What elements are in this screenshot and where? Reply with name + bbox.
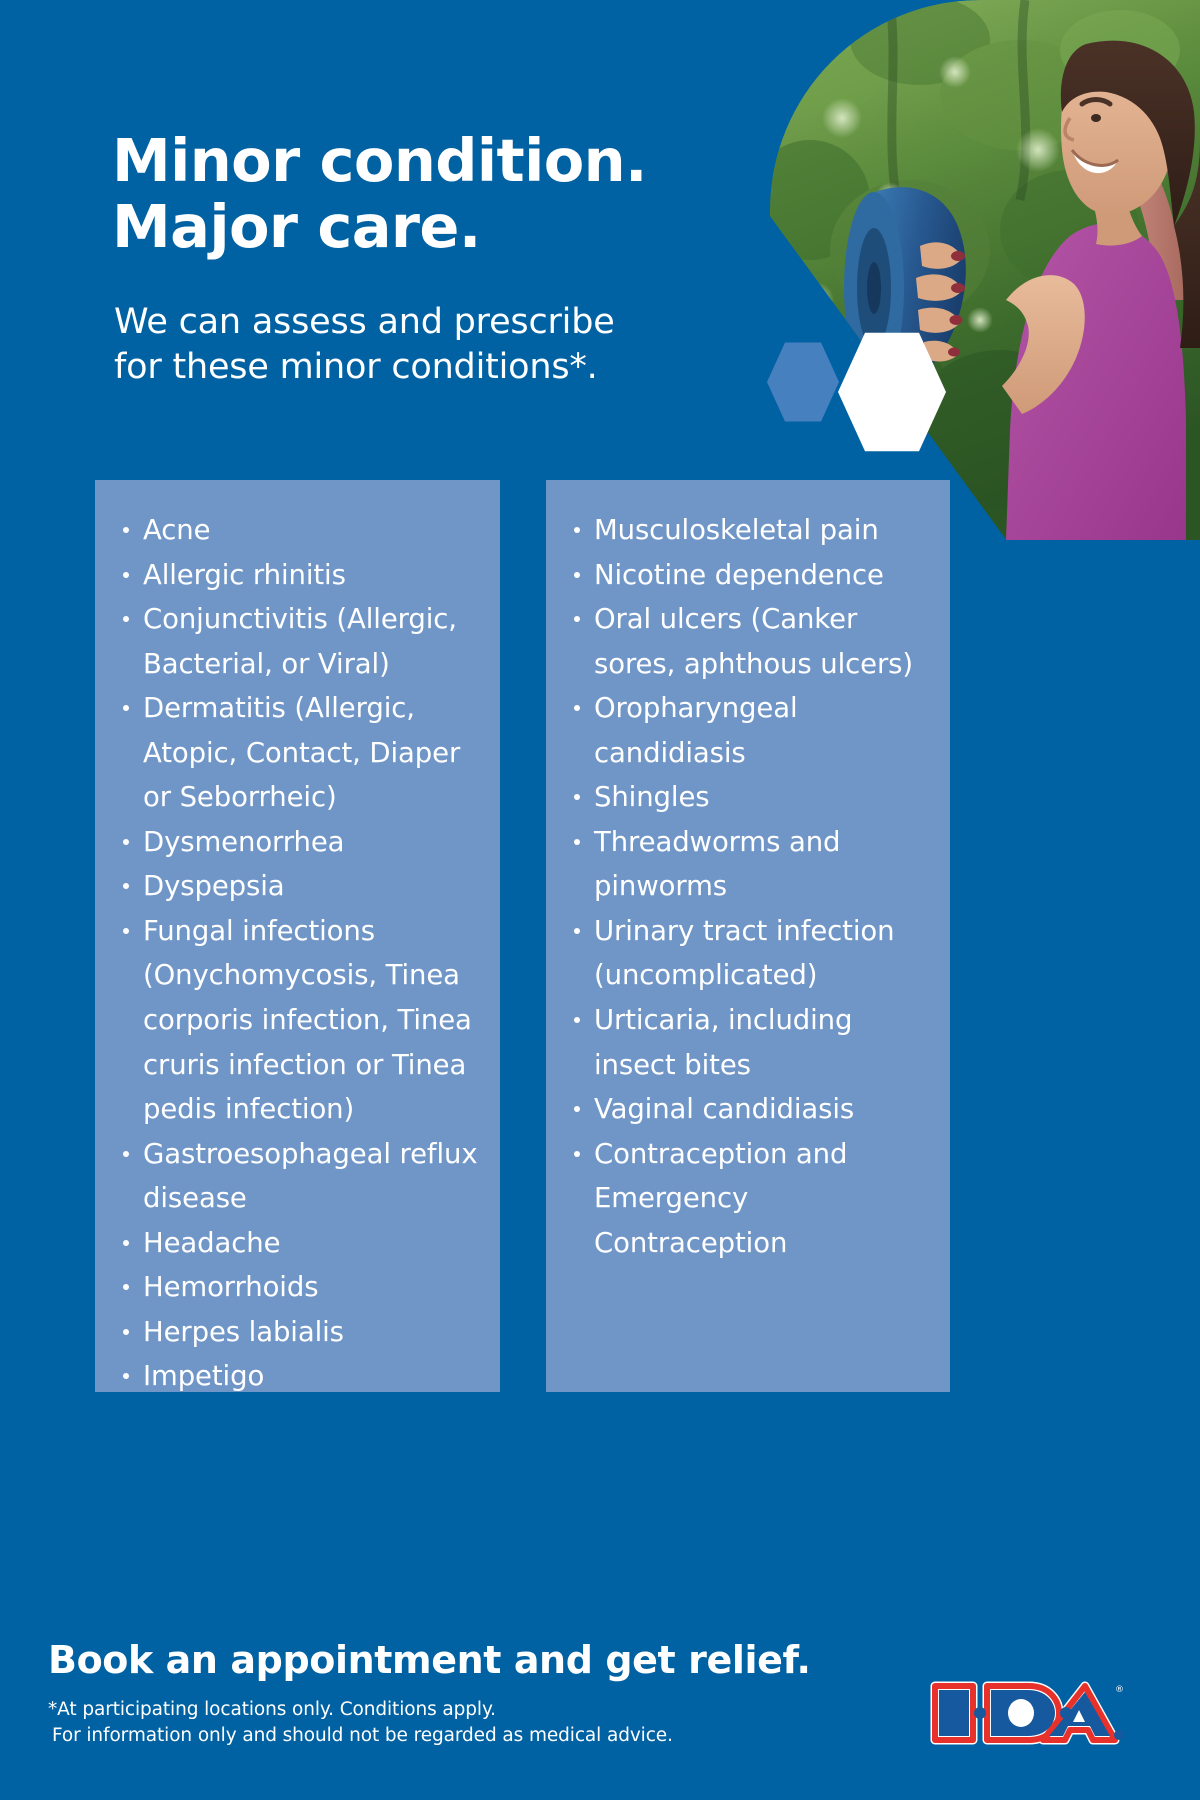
condition-item: Impetigo xyxy=(117,1354,484,1399)
page-title: Minor condition. Major care. xyxy=(112,128,692,260)
condition-item: Dermatitis (Allergic, Atopic, Contact, D… xyxy=(117,686,484,820)
condition-item: Fungal infections (Onychomycosis, Tinea … xyxy=(117,909,484,1132)
cta-text: Book an appointment and get relief. xyxy=(48,1638,811,1682)
condition-item: Musculoskeletal pain xyxy=(568,508,934,553)
condition-item: Urticaria, including insect bites xyxy=(568,998,934,1087)
hero-photo-inner xyxy=(770,0,1200,540)
condition-item: Oral ulcers (Canker sores, aphthous ulce… xyxy=(568,597,934,686)
hero-photo xyxy=(770,0,1200,540)
condition-item: Acne xyxy=(117,508,484,553)
disclaimer: *At participating locations only. Condit… xyxy=(48,1697,673,1750)
condition-item: Herpes labialis xyxy=(117,1310,484,1355)
condition-item: Oropharyngeal candidiasis xyxy=(568,686,934,775)
condition-item: Allergic rhinitis xyxy=(117,553,484,598)
condition-item: Threadworms and pinworms xyxy=(568,820,934,909)
condition-item: Gastroesophageal reflux disease xyxy=(117,1132,484,1221)
conditions-list-right: Musculoskeletal painNicotine dependenceO… xyxy=(568,508,934,1265)
condition-item: Dysmenorrhea xyxy=(117,820,484,865)
conditions-list-left: AcneAllergic rhinitisConjunctivitis (All… xyxy=(117,508,484,1399)
conditions-panel-right: Musculoskeletal painNicotine dependenceO… xyxy=(546,480,950,1392)
condition-item: Shingles xyxy=(568,775,934,820)
headline-line-2: Major care. xyxy=(112,194,692,260)
ida-logo: ® xyxy=(925,1672,1125,1754)
condition-item: Vaginal candidiasis xyxy=(568,1087,934,1132)
conditions-panel-left: AcneAllergic rhinitisConjunctivitis (All… xyxy=(95,480,500,1392)
conditions-panels: AcneAllergic rhinitisConjunctivitis (All… xyxy=(95,480,950,1392)
disclaimer-line-1: *At participating locations only. Condit… xyxy=(48,1699,496,1720)
headline-line-1: Minor condition. xyxy=(112,126,647,195)
condition-item: Contraception and Emergency Contraceptio… xyxy=(568,1132,934,1266)
condition-item: Conjunctivitis (Allergic, Bacterial, or … xyxy=(117,597,484,686)
subhead-line-1: We can assess and prescribe xyxy=(114,302,615,342)
condition-item: Headache xyxy=(117,1221,484,1266)
condition-item: Hemorrhoids xyxy=(117,1265,484,1310)
logo-registered-mark: ® xyxy=(1115,1685,1124,1695)
page-subtitle: We can assess and prescribe for these mi… xyxy=(114,300,674,390)
hero-photo-image xyxy=(770,0,1200,540)
subhead-line-2: for these minor conditions*. xyxy=(114,345,674,390)
condition-item: Nicotine dependence xyxy=(568,553,934,598)
condition-item: Urinary tract infection (uncomplicated) xyxy=(568,909,934,998)
disclaimer-line-2: For information only and should not be r… xyxy=(48,1723,673,1749)
hexagon-accent-blue xyxy=(767,340,839,424)
ida-logo-mark: ® xyxy=(925,1672,1125,1754)
condition-item: Dyspepsia xyxy=(117,864,484,909)
